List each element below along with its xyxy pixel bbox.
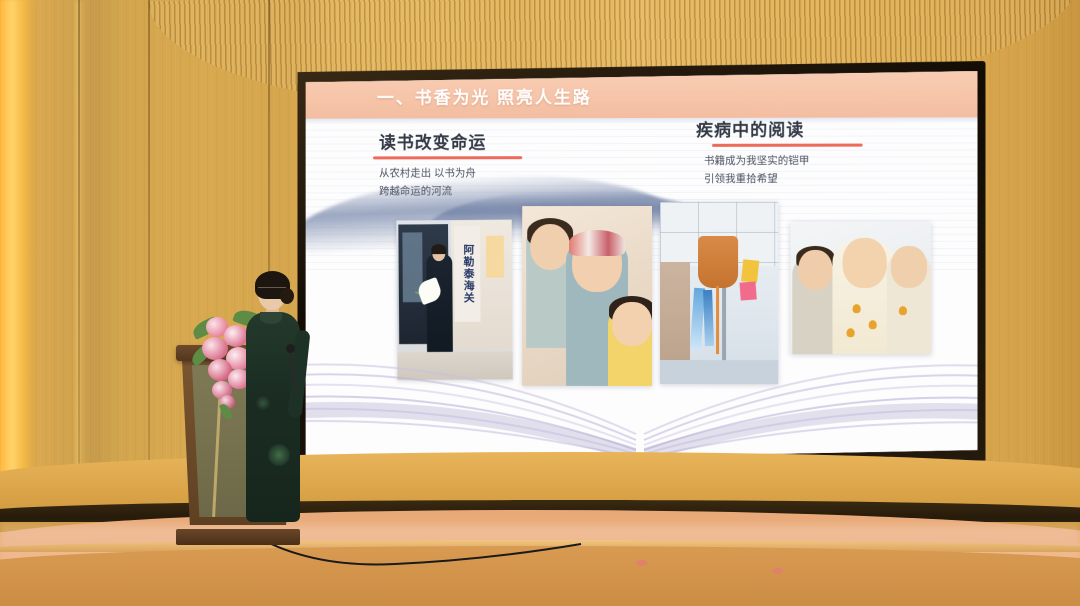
qipao-floral-motif — [268, 444, 290, 466]
microphone-cable — [255, 534, 585, 574]
section-rule-left — [373, 156, 522, 159]
section-title-right: 疾病中的阅读 — [696, 115, 947, 141]
microphone-head — [286, 344, 295, 353]
section-title-left: 读书改变命运 — [379, 128, 628, 153]
photo-caption-vertical: 阿勒泰海关 — [454, 226, 481, 322]
wall-light-strip — [0, 0, 34, 520]
section-subtitle-left-line2: 跨越命运的河流 — [379, 183, 628, 200]
slide-photo-three-women-selfie — [790, 222, 931, 355]
customs-sign-text: 阿勒泰海关 — [461, 244, 473, 304]
presenter[interactable] — [236, 276, 308, 538]
presenter-glasses — [258, 287, 286, 295]
slide-section-left: 读书改变命运 从农村走出 以书为舟 跨越命运的河流 — [379, 128, 628, 199]
section-subtitle-right-line2: 引领我重拾希望 — [704, 170, 947, 187]
floor-position-marker — [772, 568, 783, 574]
section-rule-right — [712, 144, 863, 147]
open-book-illustration — [306, 350, 978, 465]
led-screen[interactable]: 一、书香为光 照亮人生路 读书改变命运 从农村走出 以书为舟 跨越命运的河流 疾… — [298, 61, 986, 475]
wall-panel-seam — [78, 0, 80, 470]
slide-section-right: 疾病中的阅读 书籍成为我坚实的铠甲 引领我重拾希望 — [696, 115, 947, 187]
qipao-floral-motif — [256, 396, 270, 410]
floor-position-marker — [636, 560, 647, 566]
wall-panel-seam — [148, 0, 150, 470]
slide-header-title: 一、书香为光 照亮人生路 — [377, 83, 592, 108]
screen-surface[interactable]: 一、书香为光 照亮人生路 读书改变命运 从农村走出 以书为舟 跨越命运的河流 疾… — [306, 71, 978, 465]
auditorium-scene: 一、书香为光 照亮人生路 读书改变命运 从农村走出 以书为舟 跨越命运的河流 疾… — [0, 0, 1080, 606]
presentation-slide: 一、书香为光 照亮人生路 读书改变命运 从农村走出 以书为舟 跨越命运的河流 疾… — [306, 71, 978, 465]
presenter-collar — [260, 312, 282, 324]
section-subtitle-left-line1: 从农村走出 以书为舟 — [379, 165, 628, 182]
section-subtitle-right-line1: 书籍成为我坚实的铠甲 — [704, 152, 947, 169]
